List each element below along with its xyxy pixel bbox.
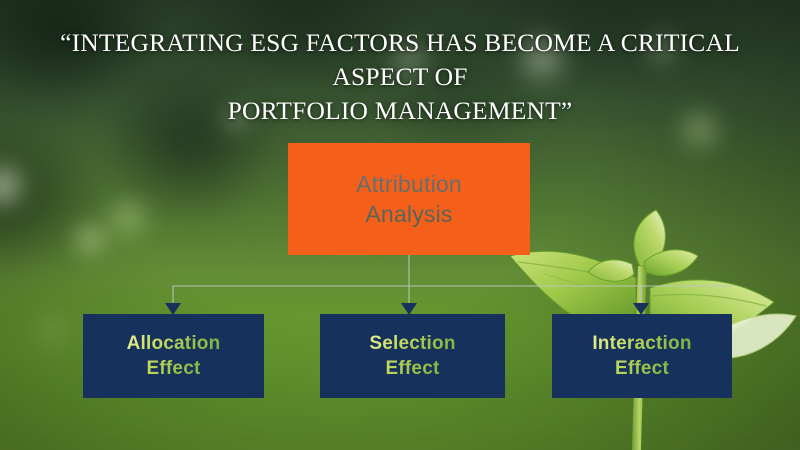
slide-canvas: “INTEGRATING ESG FACTORS HAS BECOME A CR… — [0, 0, 800, 450]
node-attribution-analysis-label: Attribution Analysis — [356, 169, 462, 229]
node-interaction-effect-label: Interaction Effect — [592, 331, 691, 381]
node-attribution-analysis[interactable]: Attribution Analysis — [288, 143, 530, 255]
node-interaction-effect[interactable]: Interaction Effect — [552, 314, 732, 398]
page-title: “INTEGRATING ESG FACTORS HAS BECOME A CR… — [40, 26, 760, 128]
node-selection-effect-label: Selection Effect — [369, 331, 455, 381]
node-allocation-effect-label: Allocation Effect — [127, 331, 221, 381]
foreground-plant-image — [500, 170, 800, 450]
node-selection-effect[interactable]: Selection Effect — [320, 314, 505, 398]
node-allocation-effect[interactable]: Allocation Effect — [83, 314, 264, 398]
